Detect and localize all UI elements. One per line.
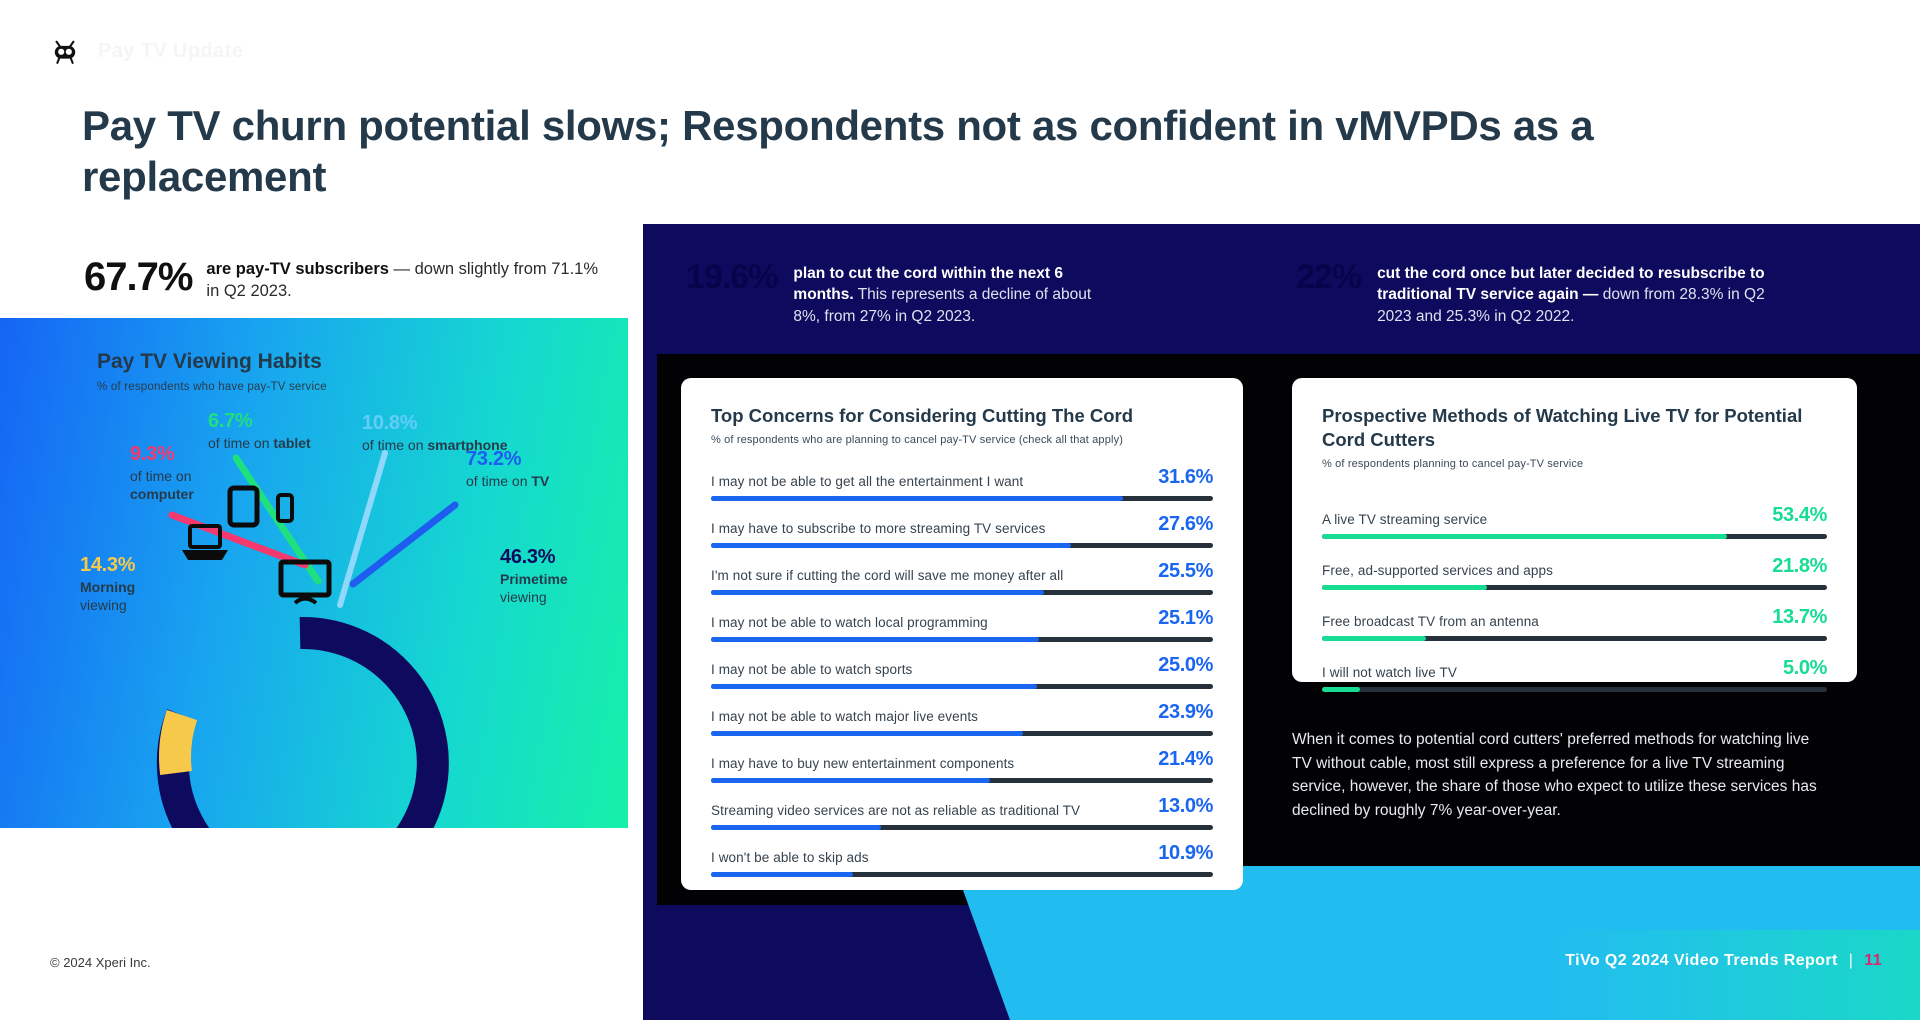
bar-row: I may not be able to watch sports25.0% [711, 654, 1213, 689]
bar-fill [711, 778, 990, 783]
label-computer-bold: computer [130, 486, 194, 502]
bar-row-header: I may have to buy new entertainment comp… [711, 748, 1213, 771]
card-top-concerns: Top Concerns for Considering Cutting The… [681, 378, 1243, 890]
bar-row-header: I may not be able to watch major live ev… [711, 701, 1213, 724]
summary-paragraph: When it comes to potential cord cutters'… [1292, 728, 1832, 822]
bar-row-label: I'm not sure if cutting the cord will sa… [711, 568, 1063, 583]
bar-track [711, 590, 1213, 595]
stat-pay-tv-subscribers: 67.7% are pay-TV subscribers — down slig… [84, 257, 606, 303]
bar-row-value: 25.1% [1158, 607, 1213, 630]
label-tv-pct: 73.2% [466, 446, 549, 472]
bar-row-value: 31.6% [1158, 466, 1213, 489]
bar-row-value: 21.4% [1158, 748, 1213, 771]
bar-row-value: 23.9% [1158, 701, 1213, 724]
eyebrow-label: Pay TV Update [98, 40, 243, 63]
bar-track [711, 543, 1213, 548]
bar-row-label: I may have to subscribe to more streamin… [711, 521, 1045, 536]
stat-value: 22% [1296, 260, 1361, 294]
label-primetime-text: viewing [500, 589, 547, 605]
card-subtitle: % of respondents who are planning to can… [711, 434, 1213, 446]
bar-row-label: I will not watch live TV [1322, 665, 1457, 680]
bar-list-top-concerns: I may not be able to get all the enterta… [681, 446, 1243, 877]
bar-row-label: I may not be able to watch sports [711, 662, 912, 677]
stat-cut-cord-plan: 19.6% plan to cut the cord within the ne… [686, 260, 1106, 327]
label-smartphone-text: of time on [362, 437, 427, 453]
bar-row-value: 25.0% [1158, 654, 1213, 677]
bar-track [1322, 636, 1827, 641]
stat-description: are pay-TV subscribers — down slightly f… [206, 257, 606, 303]
bar-row-header: I will not watch live TV5.0% [1322, 657, 1827, 680]
label-primetime-bold: Primetime [500, 571, 568, 587]
bar-list-prospective-methods: A live TV streaming service53.4%Free, ad… [1292, 470, 1857, 692]
stat-description: cut the cord once but later decided to r… [1377, 260, 1766, 327]
bar-row-label: I may not be able to get all the enterta… [711, 474, 1023, 489]
label-morning-pct: 14.3% [80, 552, 135, 578]
bar-row-header: Free, ad-supported services and apps21.8… [1322, 555, 1827, 578]
bar-row-value: 10.9% [1158, 842, 1213, 865]
bar-track [1322, 585, 1827, 590]
bar-fill [711, 543, 1071, 548]
label-computer-pct: 9.3% [130, 441, 194, 467]
bar-row: Streaming video services are not as reli… [711, 795, 1213, 830]
bar-track [711, 637, 1213, 642]
bar-row-value: 25.5% [1158, 560, 1213, 583]
bar-row-label: Streaming video services are not as reli… [711, 803, 1080, 818]
label-tablet-bold: tablet [273, 435, 310, 451]
bar-row-value: 13.0% [1158, 795, 1213, 818]
bar-row-value: 27.6% [1158, 513, 1213, 536]
bar-row-label: I won't be able to skip ads [711, 850, 869, 865]
bar-track [711, 825, 1213, 830]
bar-row: I may not be able to get all the enterta… [711, 466, 1213, 501]
donut-arc-morning [175, 715, 182, 773]
bar-row: I will not watch live TV5.0% [1322, 657, 1827, 692]
bar-fill [1322, 534, 1727, 539]
bar-row: A live TV streaming service53.4% [1322, 504, 1827, 539]
bar-fill [1322, 585, 1487, 590]
bar-fill [711, 731, 1023, 736]
label-tv-bold: TV [531, 473, 549, 489]
bar-row: I won't be able to skip ads10.9% [711, 842, 1213, 877]
bar-fill [711, 872, 853, 877]
connector-smartphone [340, 453, 385, 605]
label-smartphone-pct: 10.8% [362, 410, 508, 436]
card-header: Top Concerns for Considering Cutting The… [681, 378, 1243, 446]
bar-row-header: I won't be able to skip ads10.9% [711, 842, 1213, 865]
card-header: Prospective Methods of Watching Live TV … [1292, 378, 1857, 470]
page-title: Pay TV churn potential slows; Respondent… [82, 100, 1822, 202]
label-morning-bold: Morning [80, 579, 135, 595]
page-number: 11 [1864, 952, 1882, 970]
brand-header: Pay TV Update [48, 34, 243, 68]
bar-fill [711, 684, 1037, 689]
label-tablet: 6.7% of time on tablet [208, 408, 311, 452]
label-computer-text: of time on [130, 468, 191, 484]
bar-row-header: I may not be able to watch sports25.0% [711, 654, 1213, 677]
copyright-label: © 2024 Xperi Inc. [50, 955, 151, 970]
bar-row-header: I may have to subscribe to more streamin… [711, 513, 1213, 536]
bar-fill [711, 590, 1044, 595]
slide-root: Pay TV Update Pay TV churn potential slo… [0, 0, 1920, 1020]
card-title: Prospective Methods of Watching Live TV … [1322, 404, 1827, 452]
label-tv-text: of time on [466, 473, 531, 489]
smartphone-icon [278, 495, 292, 521]
card-subtitle: % of respondents planning to cancel pay-… [1322, 458, 1827, 470]
bar-row-header: Free broadcast TV from an antenna13.7% [1322, 606, 1827, 629]
bar-row-value: 5.0% [1783, 657, 1827, 680]
bar-row-header: I may not be able to watch local program… [711, 607, 1213, 630]
bar-track [711, 731, 1213, 736]
bar-row: I'm not sure if cutting the cord will sa… [711, 560, 1213, 595]
bar-row: Free broadcast TV from an antenna13.7% [1322, 606, 1827, 641]
label-computer: 9.3% of time on computer [130, 441, 194, 503]
bar-fill [711, 825, 881, 830]
bar-fill [711, 496, 1123, 501]
bar-track [711, 496, 1213, 501]
footer-report-title: TiVo Q2 2024 Video Trends Report [1565, 952, 1837, 970]
bar-row-label: I may not be able to watch local program… [711, 615, 988, 630]
bar-row-value: 21.8% [1772, 555, 1827, 578]
bar-row-label: I may not be able to watch major live ev… [711, 709, 978, 724]
bar-row: I may not be able to watch local program… [711, 607, 1213, 642]
stat-value: 67.7% [84, 257, 192, 297]
footer-report-bar: TiVo Q2 2024 Video Trends Report | 11 [1565, 952, 1882, 970]
viewing-habits-panel: Pay TV Viewing Habits % of respondents w… [0, 318, 628, 828]
bar-row-header: A live TV streaming service53.4% [1322, 504, 1827, 527]
donut-arc-primetime [173, 633, 433, 828]
bar-row: Free, ad-supported services and apps21.8… [1322, 555, 1827, 590]
bar-row-label: Free, ad-supported services and apps [1322, 563, 1553, 578]
bar-row: I may have to subscribe to more streamin… [711, 513, 1213, 548]
card-title: Top Concerns for Considering Cutting The… [711, 404, 1213, 428]
cyan-footer-bar [1560, 930, 1920, 1020]
bar-track [711, 684, 1213, 689]
bar-row: I may have to buy new entertainment comp… [711, 748, 1213, 783]
label-tablet-text: of time on [208, 435, 273, 451]
label-tablet-pct: 6.7% [208, 408, 311, 434]
stat-description: plan to cut the cord within the next 6 m… [793, 260, 1106, 327]
bar-track [1322, 534, 1827, 539]
bar-row: I may not be able to watch major live ev… [711, 701, 1213, 736]
card-prospective-methods: Prospective Methods of Watching Live TV … [1292, 378, 1857, 682]
bar-row-value: 53.4% [1772, 504, 1827, 527]
bar-fill [711, 637, 1039, 642]
bar-row-header: I may not be able to get all the enterta… [711, 466, 1213, 489]
bar-row-label: A live TV streaming service [1322, 512, 1487, 527]
stat-resubscribe: 22% cut the cord once but later decided … [1296, 260, 1766, 327]
bar-row-label: I may have to buy new entertainment comp… [711, 756, 1014, 771]
label-morning: 14.3% Morningviewing [80, 552, 135, 614]
stat-description-bold: are pay-TV subscribers [206, 260, 389, 278]
bar-track [711, 778, 1213, 783]
bar-track [1322, 687, 1827, 692]
bar-row-value: 13.7% [1772, 606, 1827, 629]
bar-row-label: Free broadcast TV from an antenna [1322, 614, 1539, 629]
label-primetime: 46.3% Primetimeviewing [500, 544, 568, 606]
tablet-icon [230, 488, 257, 525]
bar-track [711, 872, 1213, 877]
label-primetime-pct: 46.3% [500, 544, 568, 570]
label-tv: 73.2% of time on TV [466, 446, 549, 490]
bar-fill [1322, 636, 1426, 641]
label-morning-text: viewing [80, 597, 127, 613]
bar-row-header: Streaming video services are not as reli… [711, 795, 1213, 818]
bar-row-header: I'm not sure if cutting the cord will sa… [711, 560, 1213, 583]
footer-divider: | [1849, 952, 1854, 970]
bar-fill [1322, 687, 1360, 692]
tivo-logo-icon [48, 34, 82, 68]
stat-value: 19.6% [686, 260, 777, 294]
